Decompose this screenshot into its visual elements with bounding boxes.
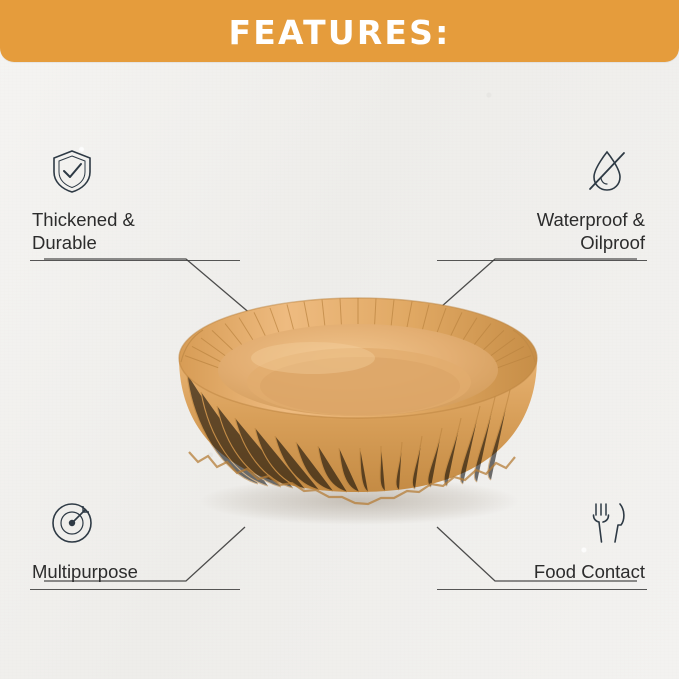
feature-waterproof-oilproof: Waterproof & Oilproof xyxy=(437,143,647,261)
feature-underline xyxy=(30,260,240,261)
feature-underline xyxy=(437,260,647,261)
feature-underline xyxy=(437,589,647,590)
product-feature-infographic: FEATURES: xyxy=(0,0,679,679)
feature-food-contact: Food Contact xyxy=(437,495,647,590)
air-fryer-paper-liner-image xyxy=(163,296,553,526)
target-icon xyxy=(44,495,100,551)
shield-check-icon xyxy=(44,143,100,199)
feature-underline xyxy=(30,589,240,590)
fork-knife-icon xyxy=(579,495,635,551)
feature-multipurpose: Multipurpose xyxy=(30,495,240,590)
feature-label-thickened-durable: Thickened & Durable xyxy=(30,208,240,254)
water-drop-crossed-icon xyxy=(579,143,635,199)
banner-title: FEATURES: xyxy=(228,16,450,49)
feature-thickened-durable: Thickened & Durable xyxy=(30,143,240,261)
feature-label-food-contact: Food Contact xyxy=(437,560,647,583)
feature-label-waterproof-oilproof: Waterproof & Oilproof xyxy=(437,208,647,254)
feature-label-multipurpose: Multipurpose xyxy=(30,560,240,583)
features-banner: FEATURES: xyxy=(0,0,679,62)
